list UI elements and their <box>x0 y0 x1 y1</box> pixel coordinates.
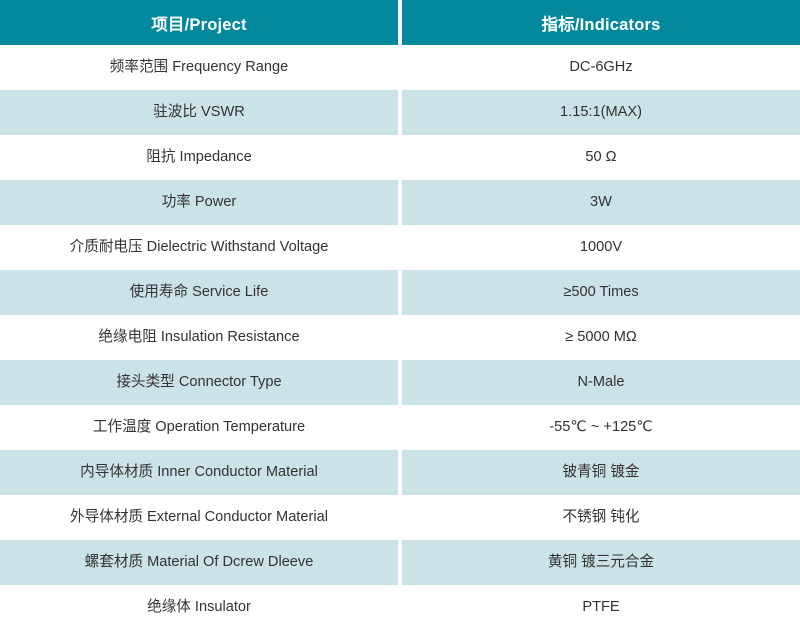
cell-project: 阻抗 Impedance <box>0 135 398 180</box>
cell-indicator: 50 Ω <box>402 135 800 180</box>
cell-indicator: PTFE <box>402 585 800 630</box>
cell-project: 绝缘电阻 Insulation Resistance <box>0 315 398 360</box>
cell-indicator: 3W <box>402 180 800 225</box>
table-row: 接头类型 Connector TypeN-Male <box>0 360 800 405</box>
table-row: 驻波比 VSWR1.15:1(MAX) <box>0 90 800 135</box>
table-body: 频率范围 Frequency RangeDC-6GHz驻波比 VSWR1.15:… <box>0 45 800 630</box>
cell-indicator: -55℃ ~ +125℃ <box>402 405 800 450</box>
table-row: 阻抗 Impedance50 Ω <box>0 135 800 180</box>
cell-project: 功率 Power <box>0 180 398 225</box>
cell-indicator: 1000V <box>402 225 800 270</box>
table-header-row: 项目/Project 指标/Indicators <box>0 0 800 45</box>
cell-project: 接头类型 Connector Type <box>0 360 398 405</box>
table-row: 使用寿命 Service Life≥500 Times <box>0 270 800 315</box>
specification-table: 项目/Project 指标/Indicators 频率范围 Frequency … <box>0 0 800 633</box>
cell-indicator: 不锈钢 钝化 <box>402 495 800 540</box>
table-row: 介质耐电压 Dielectric Withstand Voltage1000V <box>0 225 800 270</box>
table-row: 绝缘体 InsulatorPTFE <box>0 585 800 630</box>
table-row: 频率范围 Frequency RangeDC-6GHz <box>0 45 800 90</box>
table-row: 工作温度 Operation Temperature-55℃ ~ +125℃ <box>0 405 800 450</box>
cell-indicator: 黄铜 镀三元合金 <box>402 540 800 585</box>
column-header-project: 项目/Project <box>0 0 398 45</box>
table-row: 外导体材质 External Conductor Material不锈钢 钝化 <box>0 495 800 540</box>
column-header-indicators: 指标/Indicators <box>402 0 800 45</box>
cell-project: 外导体材质 External Conductor Material <box>0 495 398 540</box>
table-row: 功率 Power3W <box>0 180 800 225</box>
cell-project: 绝缘体 Insulator <box>0 585 398 630</box>
table-row: 螺套材质 Material Of Dcrew Dleeve黄铜 镀三元合金 <box>0 540 800 585</box>
table-row: 内导体材质 Inner Conductor Material铍青铜 镀金 <box>0 450 800 495</box>
cell-project: 驻波比 VSWR <box>0 90 398 135</box>
cell-project: 使用寿命 Service Life <box>0 270 398 315</box>
table-row: 绝缘电阻 Insulation Resistance≥ 5000 MΩ <box>0 315 800 360</box>
cell-indicator: ≥ 5000 MΩ <box>402 315 800 360</box>
cell-project: 频率范围 Frequency Range <box>0 45 398 90</box>
cell-indicator: 铍青铜 镀金 <box>402 450 800 495</box>
cell-indicator: N-Male <box>402 360 800 405</box>
cell-project: 介质耐电压 Dielectric Withstand Voltage <box>0 225 398 270</box>
cell-indicator: ≥500 Times <box>402 270 800 315</box>
cell-project: 螺套材质 Material Of Dcrew Dleeve <box>0 540 398 585</box>
cell-project: 内导体材质 Inner Conductor Material <box>0 450 398 495</box>
cell-indicator: 1.15:1(MAX) <box>402 90 800 135</box>
cell-project: 工作温度 Operation Temperature <box>0 405 398 450</box>
cell-indicator: DC-6GHz <box>402 45 800 90</box>
